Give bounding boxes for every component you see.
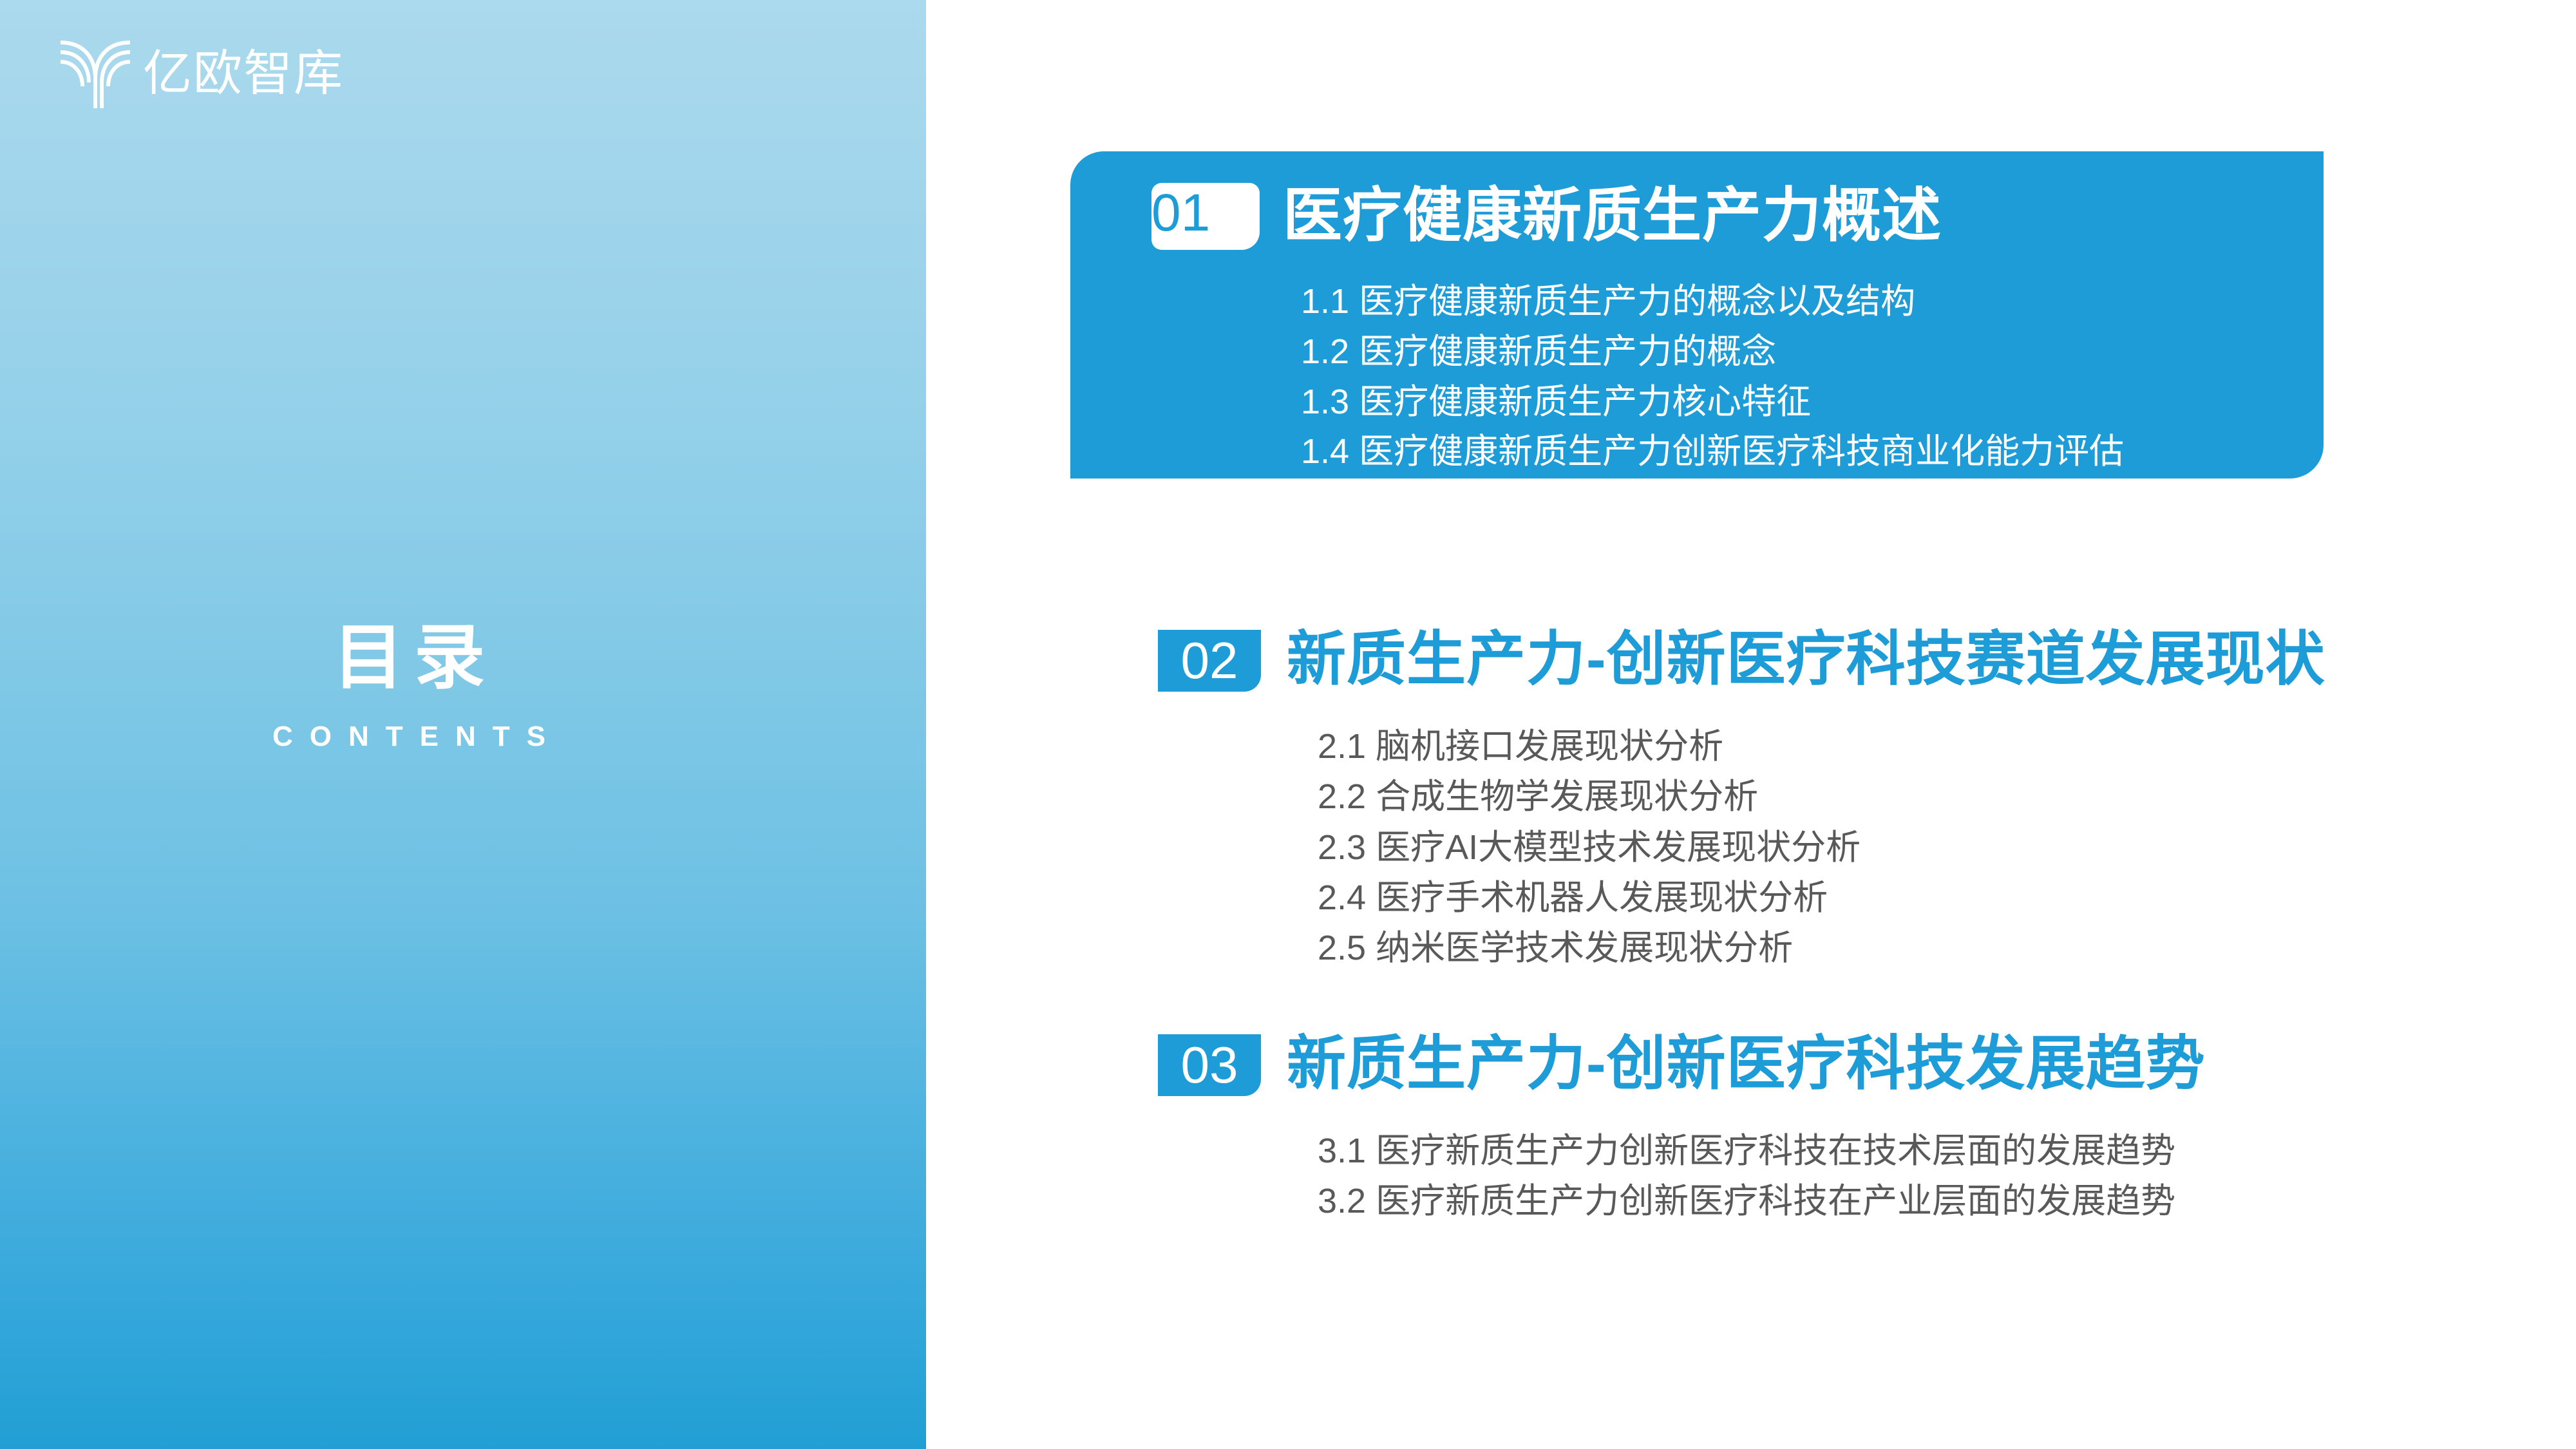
- list-item[interactable]: 1.2 医疗健康新质生产力的概念: [1301, 327, 2124, 377]
- contents-title-cn: 目录: [0, 618, 818, 697]
- section-number-badge-02: 02: [1158, 630, 1261, 692]
- yiou-tree-logo-icon: [57, 31, 134, 109]
- list-item[interactable]: 2.3 医疗AI大模型技术发展现状分析: [1318, 822, 1861, 873]
- list-item[interactable]: 2.5 纳米医学技术发展现状分析: [1318, 923, 1861, 973]
- section-items-02: 2.1 脑机接口发展现状分析 2.2 合成生物学发展现状分析 2.3 医疗AI大…: [1318, 721, 1861, 973]
- section-number-badge-03: 03: [1158, 1034, 1261, 1096]
- section-number-badge-01: 01: [1151, 183, 1260, 250]
- brand-logo-text: 亿欧智库: [143, 50, 344, 99]
- section-items-01: 1.1 医疗健康新质生产力的概念以及结构 1.2 医疗健康新质生产力的概念 1.…: [1301, 277, 2124, 477]
- toc-section-01[interactable]: 01 医疗健康新质生产力概述 1.1 医疗健康新质生产力的概念以及结构 1.2 …: [1070, 151, 2324, 478]
- list-item[interactable]: 2.1 脑机接口发展现状分析: [1318, 721, 1861, 772]
- list-item[interactable]: 1.3 医疗健康新质生产力核心特征: [1301, 377, 2124, 428]
- contents-panel: 01 医疗健康新质生产力概述 1.1 医疗健康新质生产力的概念以及结构 1.2 …: [926, 0, 2576, 1449]
- section-title-01: 医疗健康新质生产力概述: [1283, 181, 1942, 251]
- list-item[interactable]: 2.4 医疗手术机器人发展现状分析: [1318, 873, 1861, 923]
- list-item[interactable]: 3.2 医疗新质生产力创新医疗科技在产业层面的发展趋势: [1318, 1176, 2175, 1226]
- section-title-02: 新质生产力-创新医疗科技赛道发展现状: [1287, 625, 2325, 695]
- list-item[interactable]: 1.4 医疗健康新质生产力创新医疗科技商业化能力评估: [1301, 427, 2124, 477]
- list-item[interactable]: 2.2 合成生物学发展现状分析: [1318, 772, 1861, 822]
- section-items-03: 3.1 医疗新质生产力创新医疗科技在技术层面的发展趋势 3.2 医疗新质生产力创…: [1318, 1126, 2175, 1227]
- list-item[interactable]: 3.1 医疗新质生产力创新医疗科技在技术层面的发展趋势: [1318, 1126, 2175, 1176]
- section-title-03: 新质生产力-创新医疗科技发展趋势: [1287, 1029, 2206, 1099]
- list-item[interactable]: 1.1 医疗健康新质生产力的概念以及结构: [1301, 277, 2124, 327]
- brand-logo[interactable]: 亿欧智库: [57, 31, 344, 109]
- contents-heading-block: 目录 CONTENTS: [0, 618, 926, 753]
- sidebar: 亿欧智库 目录 CONTENTS: [0, 0, 926, 1449]
- contents-title-en: CONTENTS: [0, 721, 818, 753]
